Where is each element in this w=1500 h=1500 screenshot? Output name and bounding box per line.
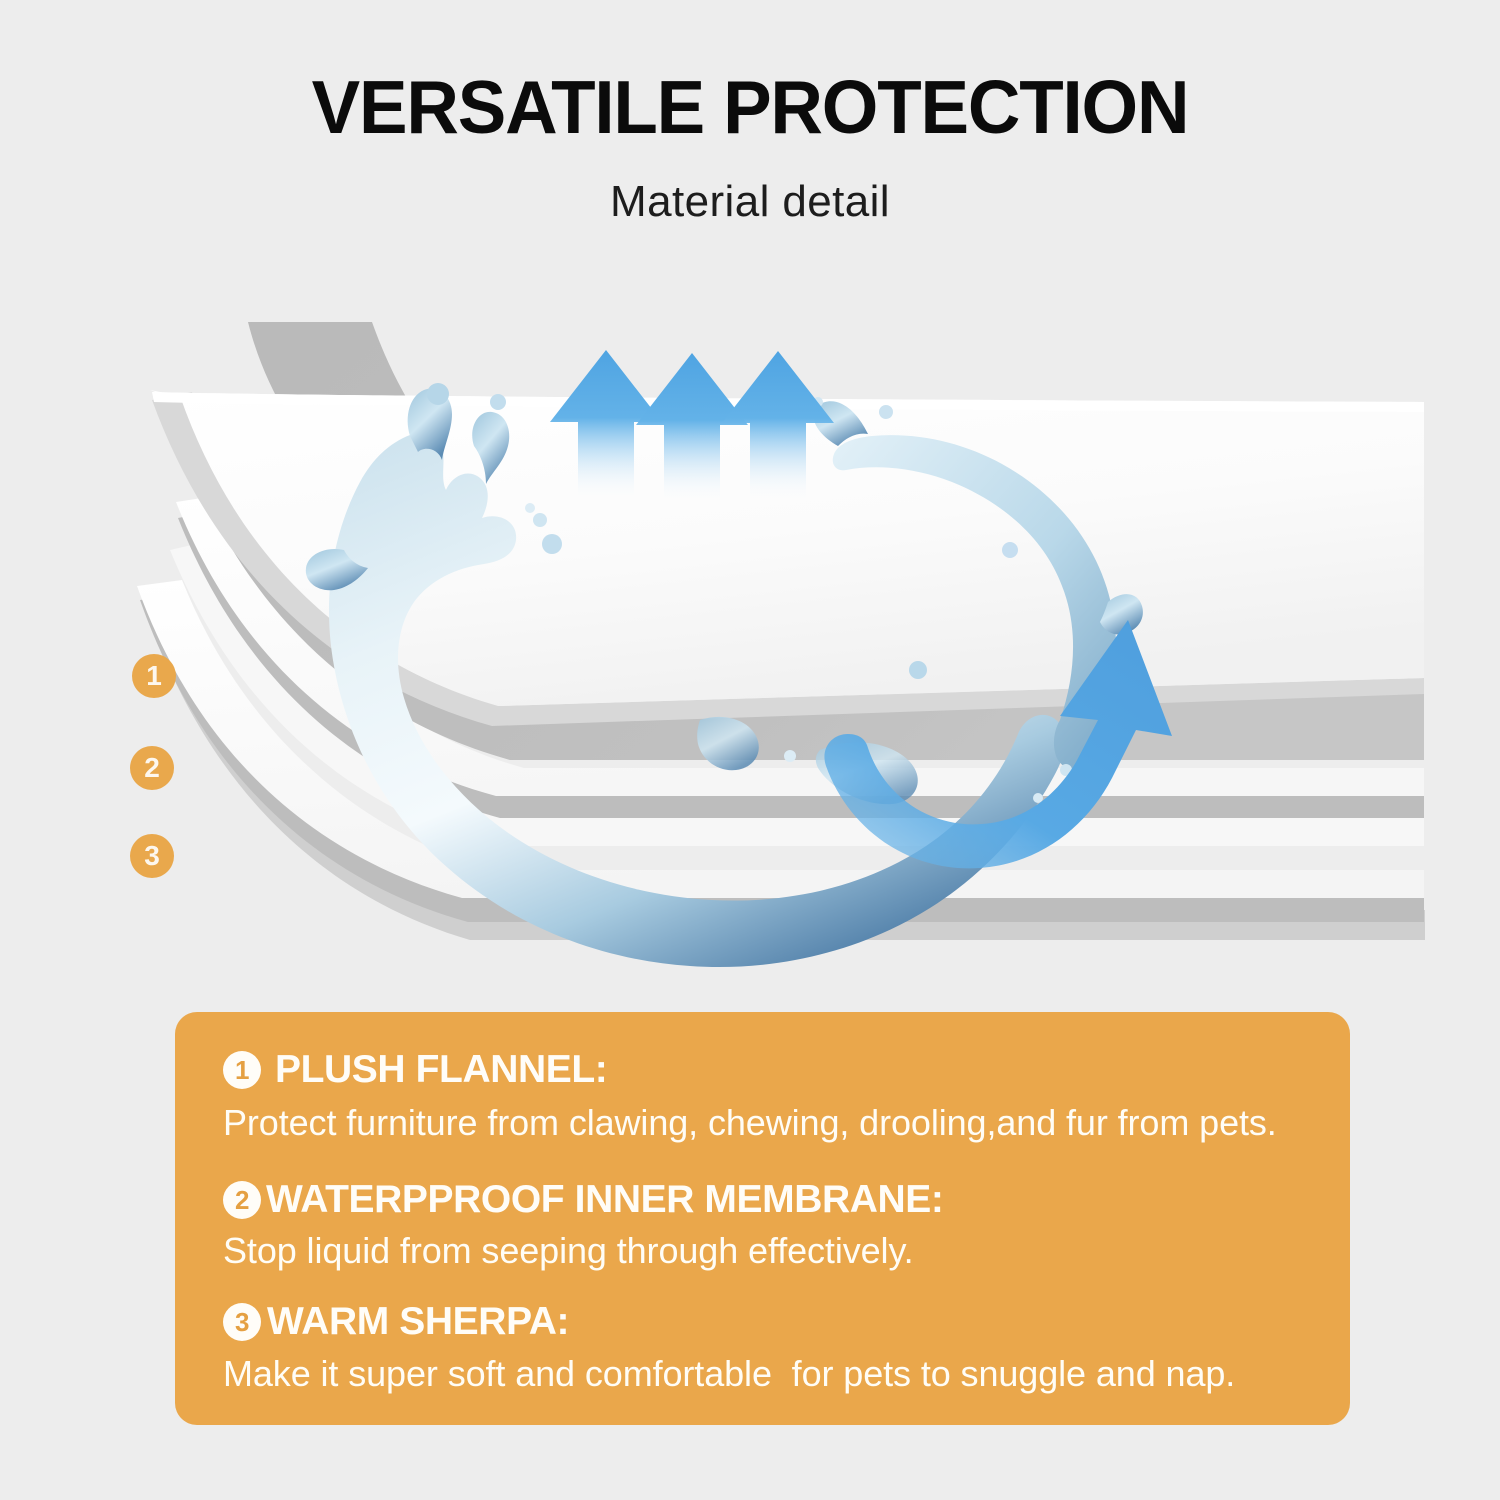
feature-heading-label: WARM SHERPA: [267,1300,569,1344]
feature-heading: 1 PLUSH FLANNEL: [223,1048,1277,1092]
circled-number-icon: 2 [223,1181,261,1219]
up-arrow-icon [722,351,834,500]
feature-description: Stop liquid from seeping through effecti… [223,1229,943,1273]
layer-marker-3[interactable]: 3 [130,834,174,878]
page-title: VERSATILE PROTECTION [23,66,1478,148]
airflow-arrows [0,250,1500,970]
feature-panel: 1 PLUSH FLANNEL: Protect furniture from … [175,1012,1350,1425]
feature-item-plush-flannel: 1 PLUSH FLANNEL: Protect furniture from … [223,1048,1277,1145]
feature-item-waterproof-membrane: 2 WATERPPROOF INNER MEMBRANE: Stop liqui… [223,1178,943,1273]
feature-heading: 3 WARM SHERPA: [223,1300,1235,1344]
page-subtitle: Material detail [0,176,1500,228]
feature-description: Make it super soft and comfortable for p… [223,1352,1235,1396]
material-layers-illustration: 1 2 3 [0,250,1500,970]
feature-heading: 2 WATERPPROOF INNER MEMBRANE: [223,1178,943,1222]
layer-marker-2[interactable]: 2 [130,746,174,790]
circled-number-icon: 1 [223,1051,261,1089]
layer-marker-1[interactable]: 1 [132,654,176,698]
feature-heading-label: PLUSH FLANNEL: [275,1048,607,1092]
circled-number-icon: 3 [223,1303,261,1341]
infographic-canvas: VERSATILE PROTECTION Material detail [0,0,1500,1500]
feature-heading-label: WATERPPROOF INNER MEMBRANE: [266,1178,943,1222]
feature-item-warm-sherpa: 3 WARM SHERPA: Make it super soft and co… [223,1300,1235,1396]
up-arrow-icon [636,353,748,502]
feature-description: Protect furniture from clawing, chewing,… [223,1101,1277,1145]
curved-up-arrow-icon [824,620,1172,868]
